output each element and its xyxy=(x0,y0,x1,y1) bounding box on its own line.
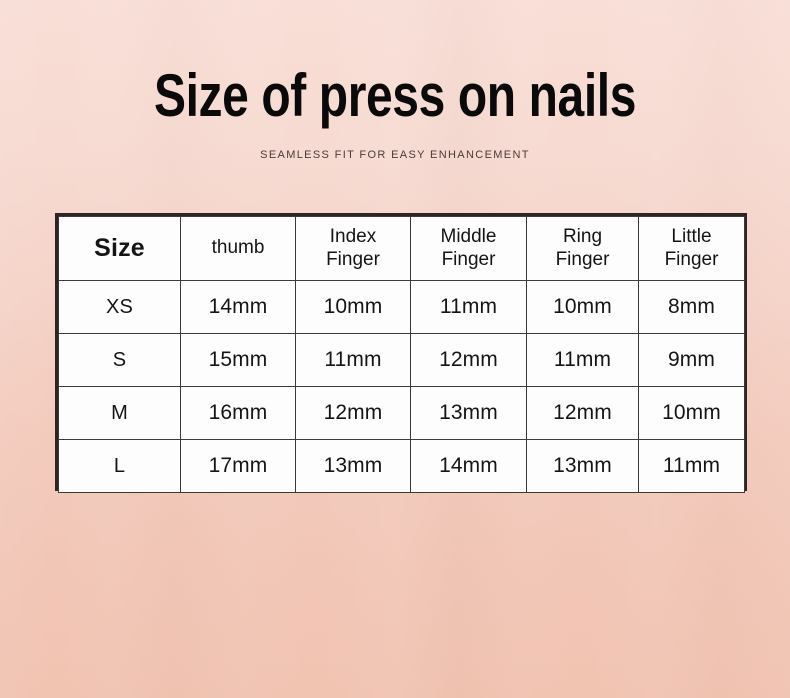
page-subtitle: SEAMLESS FIT FOR EASY ENHANCEMENT xyxy=(0,149,790,161)
column-header-size: Size xyxy=(59,217,181,281)
size-chart-container: Size thumb Index Finger Middle Finger Ri… xyxy=(55,213,747,491)
cell-ring: 12mm xyxy=(527,387,639,440)
table-header-row: Size thumb Index Finger Middle Finger Ri… xyxy=(59,217,745,281)
column-header-ring-finger: Ring Finger xyxy=(527,217,639,281)
table-row: M 16mm 12mm 13mm 12mm 10mm xyxy=(59,387,745,440)
cell-thumb: 17mm xyxy=(181,440,296,493)
column-header-little-finger: Little Finger xyxy=(639,217,745,281)
column-header-ring-finger-line-2: Finger xyxy=(529,249,636,271)
column-header-middle-finger-line-1: Middle xyxy=(413,226,524,248)
cell-little: 8mm xyxy=(639,281,745,334)
column-header-middle-finger: Middle Finger xyxy=(411,217,527,281)
table-row: S 15mm 11mm 12mm 11mm 9mm xyxy=(59,334,745,387)
cell-thumb: 15mm xyxy=(181,334,296,387)
cell-ring: 11mm xyxy=(527,334,639,387)
cell-index: 11mm xyxy=(296,334,411,387)
cell-middle: 11mm xyxy=(411,281,527,334)
column-header-middle-finger-line-2: Finger xyxy=(413,249,524,271)
cell-little: 11mm xyxy=(639,440,745,493)
heading-block: Size of press on nails SEAMLESS FIT FOR … xyxy=(0,0,790,161)
table-header: Size thumb Index Finger Middle Finger Ri… xyxy=(59,217,745,281)
cell-size: XS xyxy=(59,281,181,334)
cell-size: M xyxy=(59,387,181,440)
table-row: L 17mm 13mm 14mm 13mm 11mm xyxy=(59,440,745,493)
table-body: XS 14mm 10mm 11mm 10mm 8mm S 15mm 11mm 1… xyxy=(59,281,745,493)
cell-index: 13mm xyxy=(296,440,411,493)
cell-middle: 13mm xyxy=(411,387,527,440)
column-header-little-finger-line-2: Finger xyxy=(641,249,742,271)
size-chart-table: Size thumb Index Finger Middle Finger Ri… xyxy=(58,216,745,493)
cell-size: S xyxy=(59,334,181,387)
cell-middle: 12mm xyxy=(411,334,527,387)
column-header-size-line-1: Size xyxy=(61,234,178,263)
cell-size: L xyxy=(59,440,181,493)
cell-middle: 14mm xyxy=(411,440,527,493)
cell-thumb: 14mm xyxy=(181,281,296,334)
cell-index: 10mm xyxy=(296,281,411,334)
page-title: Size of press on nails xyxy=(79,64,711,127)
column-header-index-finger-line-1: Index xyxy=(298,226,408,248)
column-header-thumb-line-1: thumb xyxy=(183,237,293,259)
column-header-thumb: thumb xyxy=(181,217,296,281)
column-header-little-finger-line-1: Little xyxy=(641,226,742,248)
cell-ring: 13mm xyxy=(527,440,639,493)
cell-little: 10mm xyxy=(639,387,745,440)
column-header-index-finger-line-2: Finger xyxy=(298,249,408,271)
column-header-ring-finger-line-1: Ring xyxy=(529,226,636,248)
cell-ring: 10mm xyxy=(527,281,639,334)
cell-little: 9mm xyxy=(639,334,745,387)
table-row: XS 14mm 10mm 11mm 10mm 8mm xyxy=(59,281,745,334)
cell-index: 12mm xyxy=(296,387,411,440)
column-header-index-finger: Index Finger xyxy=(296,217,411,281)
cell-thumb: 16mm xyxy=(181,387,296,440)
